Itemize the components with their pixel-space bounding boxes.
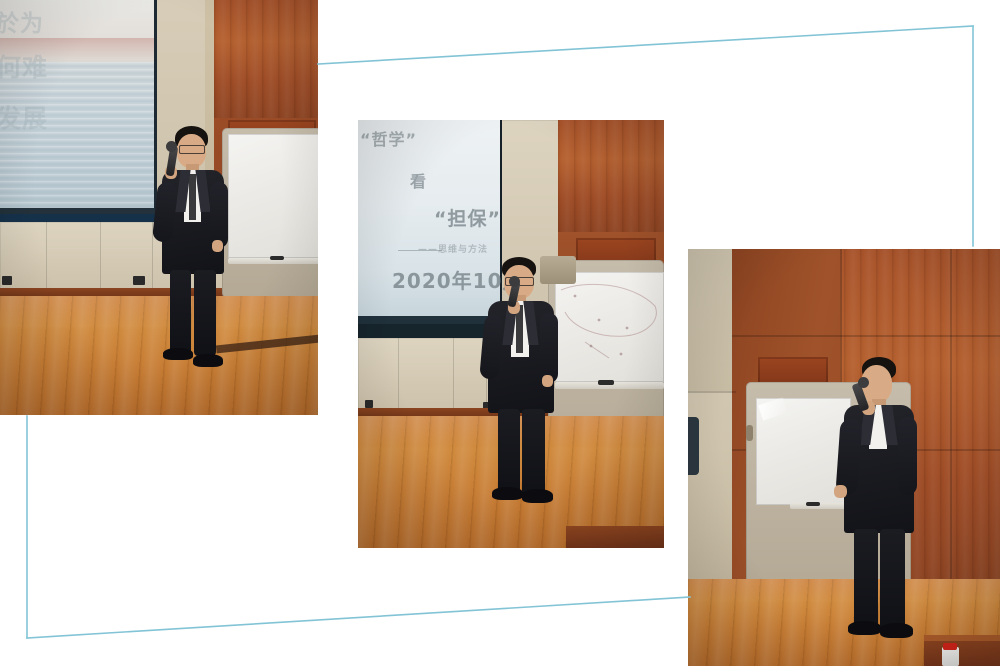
photo-2-speaker-with-slide-title[interactable]: “哲学” 看 “担保” ——思维与方法 2020年10月 — [358, 120, 664, 548]
photo-3-speaker-with-whiteboard[interactable] — [688, 249, 1000, 666]
deco-line-top-horizontal — [318, 26, 973, 64]
collage-stage: 於为 何难 发展 — [0, 0, 1000, 666]
photo-1-speaker-with-projector-screen[interactable]: 於为 何难 发展 — [0, 0, 318, 415]
deco-line-bottom-horizontal — [27, 597, 690, 638]
